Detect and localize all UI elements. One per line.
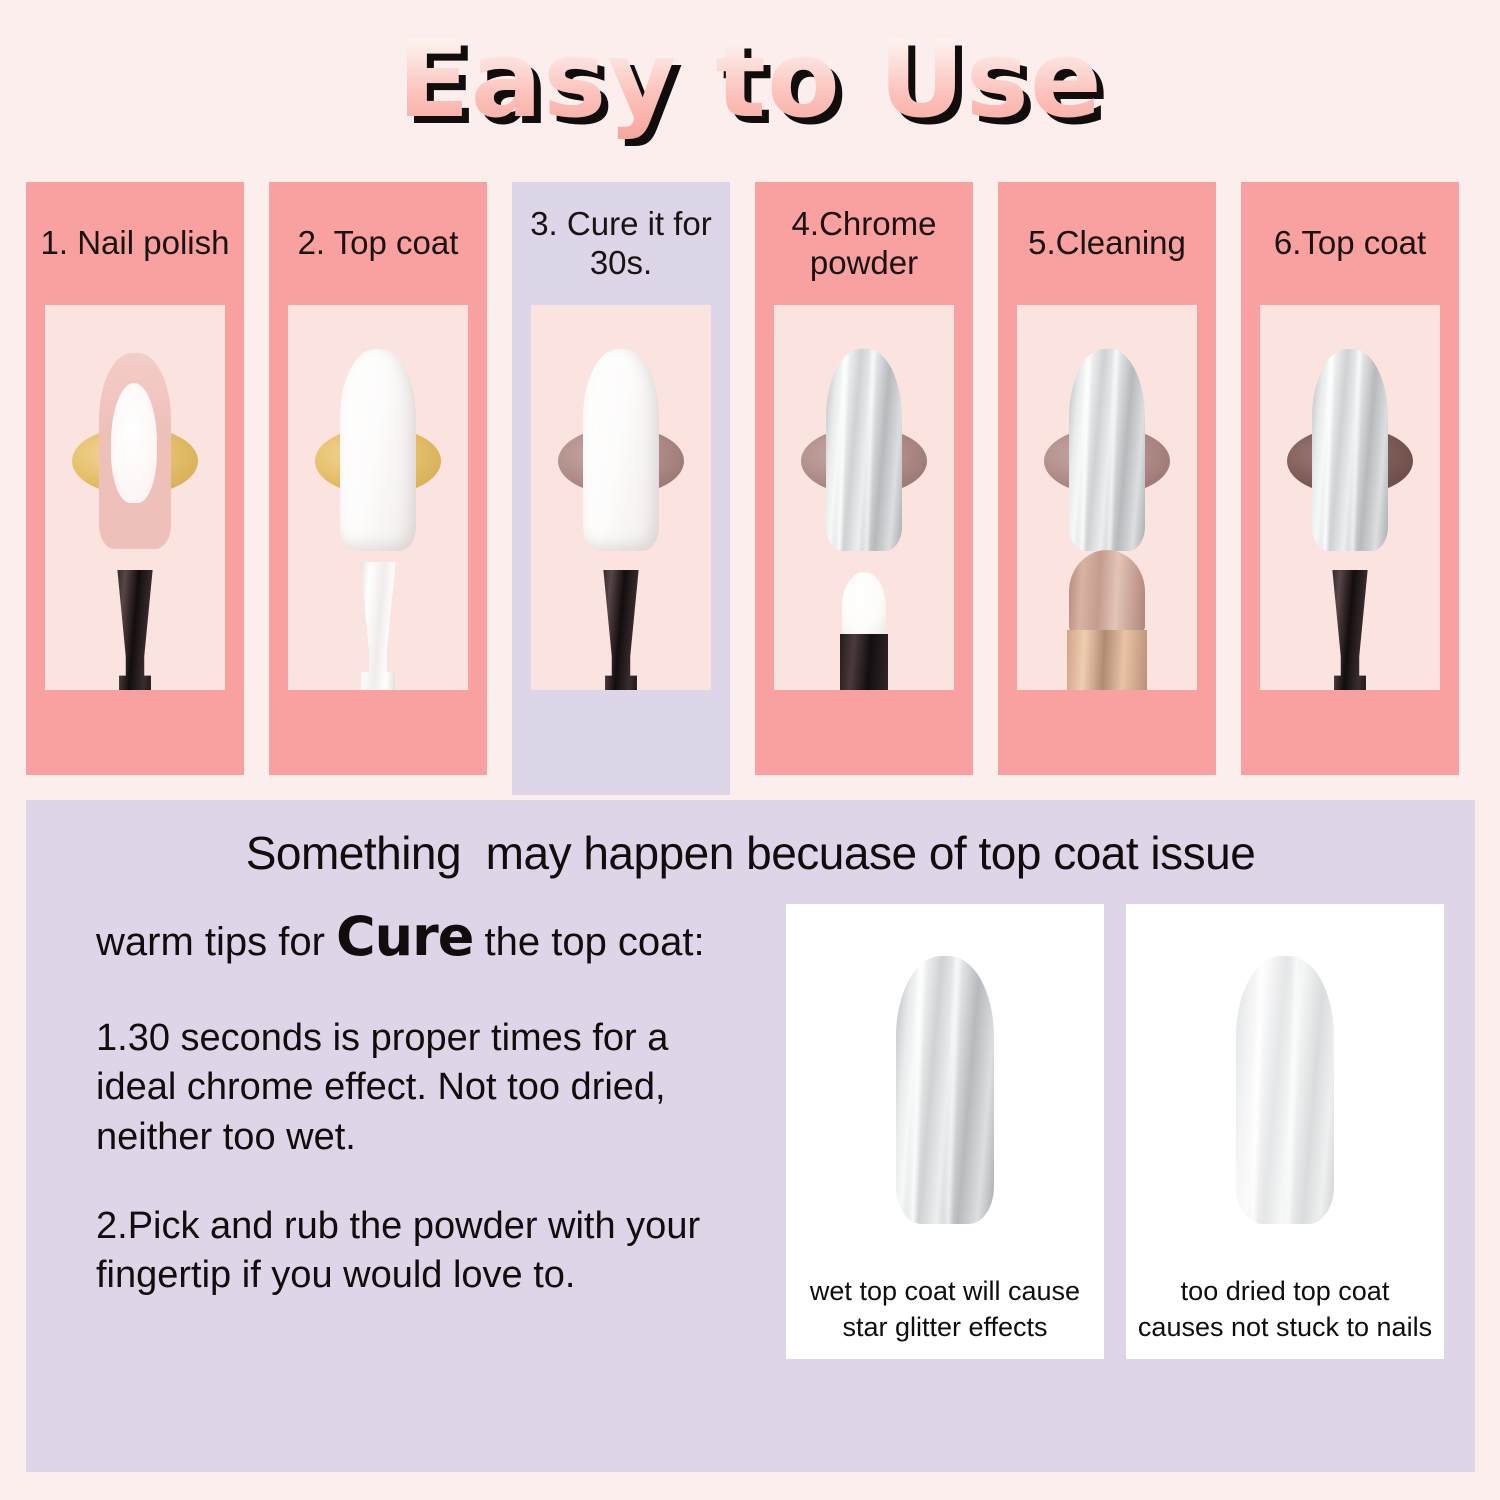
step-label-5: 5.Cleaning [998,182,1216,305]
nail-icon [99,353,171,549]
step-image-4 [774,305,954,690]
brush-ferrule [1067,630,1147,690]
brush-bristles [1069,550,1145,634]
warm-tips-lead-after: the top coat: [473,920,704,964]
step-image-6 [1260,305,1440,690]
comparison-card-wet[interactable]: wet top coat will cause star glitter eff… [786,904,1104,1359]
step-card-2[interactable]: 2. Top coat [269,182,487,775]
step-label-6: 6.Top coat [1241,182,1459,305]
step-card-6[interactable]: 6.Top coat [1241,182,1459,775]
warm-tips-emphasis: Cure [336,905,473,968]
nail-icon [826,349,902,551]
comparison-caption-wet: wet top coat will cause star glitter eff… [786,1270,1104,1345]
white-polish-brush-icon [356,562,400,690]
steps-row: 1. Nail polish 2. Top coat 3. Cure it fo… [26,182,1474,795]
black-polish-brush-icon [600,570,642,690]
step-label-3: 3. Cure it for 30s. [512,182,730,305]
step-label-1: 1. Nail polish [26,182,244,305]
warm-tip-2: 2.Pick and rub the powder with your fing… [96,1202,756,1301]
step-label-4: 4.Chrome powder [755,182,973,305]
nail-icon [896,956,994,1224]
step-card-4[interactable]: 4.Chrome powder [755,182,973,775]
nail-icon [1312,349,1388,551]
step-image-2 [288,305,468,690]
sponge-tip [842,572,886,640]
nail-icon [1236,956,1334,1224]
black-polish-brush-icon [114,570,156,690]
nail-icon [1069,349,1145,551]
bottom-grid: warm tips for Cure the top coat: 1.30 se… [26,904,1475,1359]
comparison-caption-dried: too dried top coat causes not stuck to n… [1126,1270,1444,1345]
sponge-applicator-icon [836,572,892,690]
comparison-card-dried[interactable]: too dried top coat causes not stuck to n… [1126,904,1444,1359]
step-image-1 [45,305,225,690]
step-card-5[interactable]: 5.Cleaning [998,182,1216,775]
nail-icon [340,349,416,551]
comparison-image-wet [786,904,1104,1270]
step-image-3 [531,305,711,690]
sponge-handle [840,634,888,690]
step-card-3[interactable]: 3. Cure it for 30s. [512,182,730,795]
comparison-cards: wet top coat will cause star glitter eff… [786,904,1444,1359]
bottom-heading: Something may happen becuase of top coat… [26,826,1475,880]
step-label-2: 2. Top coat [269,182,487,305]
step-image-5 [1017,305,1197,690]
warm-tips-block: warm tips for Cure the top coat: 1.30 se… [96,904,756,1359]
warm-tip-1: 1.30 seconds is proper times for a ideal… [96,1014,756,1162]
page-title-text: Easy to Use [397,18,1103,141]
comparison-image-dried [1126,904,1444,1270]
warm-tips-lead: warm tips for Cure the top coat: [96,904,756,970]
page-title: Easy to Use Easy to Use [0,22,1500,139]
makeup-brush-icon [1065,550,1149,690]
top-coat-issue-panel: Something may happen becuase of top coat… [26,800,1475,1472]
nail-icon [583,349,659,551]
black-polish-brush-icon [1329,570,1371,690]
warm-tips-lead-before: warm tips for [96,920,336,964]
step-card-1[interactable]: 1. Nail polish [26,182,244,775]
